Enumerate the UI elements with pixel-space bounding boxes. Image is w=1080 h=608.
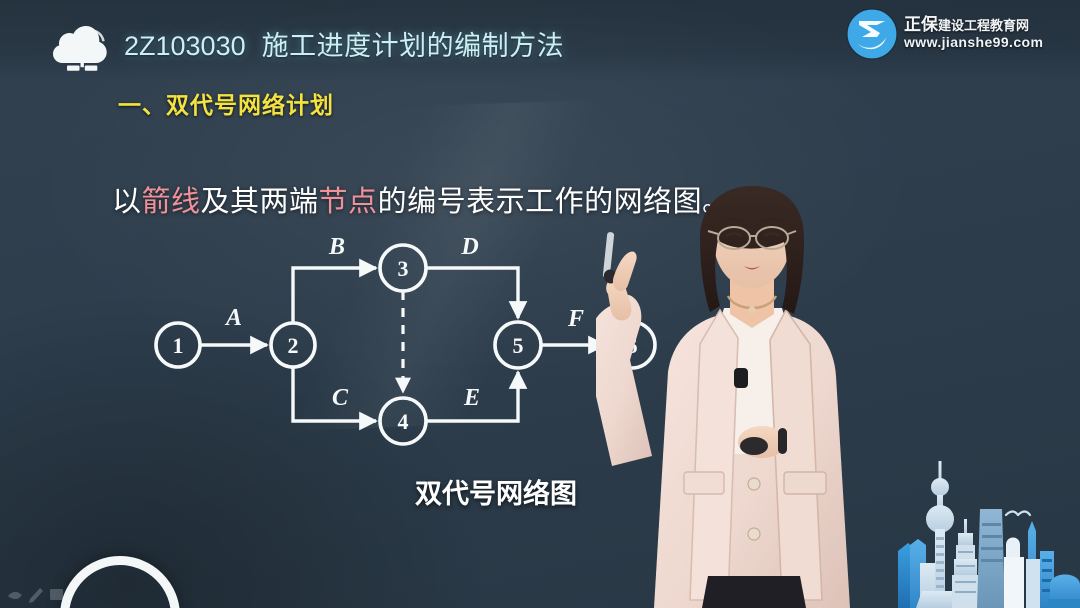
diagram-edge-label-E: E (463, 385, 480, 411)
diagram-edge-label-B: B (328, 234, 345, 260)
diagram-edge-label-A: A (224, 305, 242, 331)
whiteboard-toolbar[interactable] (6, 584, 68, 604)
diagram-edge-label-D: D (460, 234, 478, 260)
diagram-node-label-5: 5 (513, 333, 524, 358)
diagram-caption: 双代号网络图 (415, 472, 577, 511)
diagram-edge-label-F: F (567, 306, 584, 332)
presenter-left-arm (596, 232, 652, 466)
lecture-slide: 2Z103030 施工进度计划的编制方法 一、双代号网络计划 正保建设工程教育网… (0, 0, 1080, 608)
jin-mao-tower (952, 519, 979, 608)
eraser-icon (8, 592, 22, 599)
wristwatch-icon (778, 428, 787, 454)
pen-icon (29, 588, 43, 603)
shanghai-skyline-illustration (880, 433, 1080, 608)
bird-icon (1006, 512, 1030, 516)
diagram-edge-D (426, 268, 518, 318)
diagram-node-label-2: 2 (288, 333, 299, 358)
diagram-node-label-3: 3 (398, 256, 409, 281)
presenter-video (596, 176, 908, 608)
diagram-node-label-4: 4 (398, 409, 409, 434)
lapel-microphone-icon (734, 368, 748, 388)
diagram-edge-B (293, 268, 376, 323)
diagram-node-label-1: 1 (173, 333, 184, 358)
diagram-edge-label-C: C (332, 385, 349, 411)
clicker-icon (740, 437, 768, 455)
board-icon (50, 589, 63, 600)
